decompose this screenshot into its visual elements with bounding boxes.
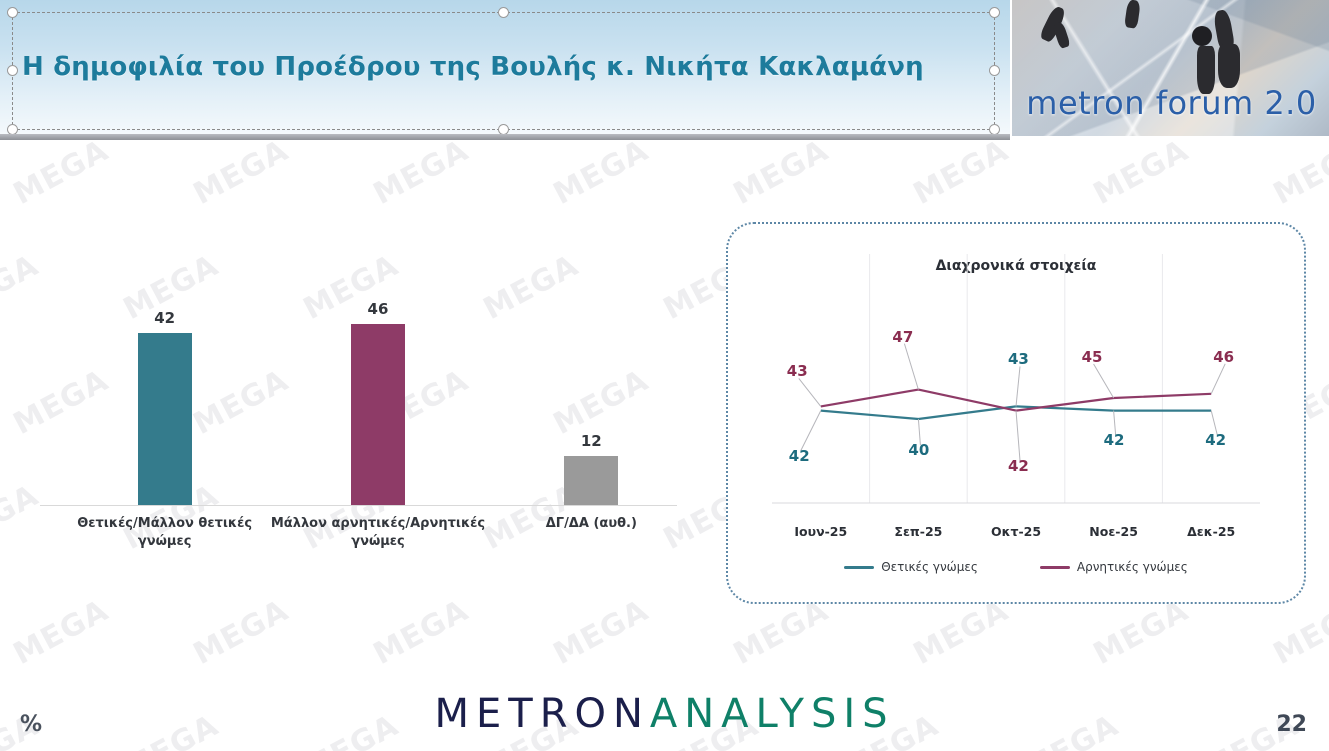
- bar-rect[interactable]: [351, 324, 405, 505]
- bar-chart-current-opinions: 424612 Θετικές/Μάλλον θετικές γνώμεςΜάλλ…: [18, 300, 698, 570]
- watermark-text: MEGA: [1088, 593, 1195, 672]
- watermark-text: MEGA: [1268, 133, 1329, 212]
- bar-column: 12: [485, 300, 698, 505]
- selection-handle-top-left[interactable]: [7, 7, 18, 18]
- data-label-leader-line: [799, 378, 821, 406]
- watermark-text: MEGA: [728, 133, 835, 212]
- watermark-text: MEGA: [1268, 593, 1329, 672]
- data-point-label: 43: [1008, 350, 1029, 368]
- data-point-label: 46: [1213, 348, 1234, 366]
- x-axis-tick-label: Νοε-25: [1089, 524, 1138, 539]
- bar-category-label: ΔΓ/ΔΑ (αυθ.): [481, 515, 701, 533]
- data-point-label: 43: [787, 362, 808, 380]
- watermark-text: MEGA: [908, 133, 1015, 212]
- timeline-chart-plot-area: 42404342424347424546: [772, 254, 1260, 509]
- bar-column: 46: [271, 300, 484, 505]
- watermark-text: MEGA: [8, 133, 115, 212]
- timeline-chart-x-axis: Ιουν-25Σεπ-25Οκτ-25Νοε-25Δεκ-25: [772, 524, 1260, 546]
- watermark-text: MEGA: [8, 593, 115, 672]
- legend-item-positive[interactable]: Θετικές γνώμες: [844, 560, 978, 574]
- metron-analysis-logo: METRONANALYSIS: [0, 691, 1329, 737]
- header-divider-rule: [0, 134, 1010, 140]
- watermark-text: MEGA: [728, 593, 835, 672]
- page-title: Η δημοφιλία του Προέδρου της Βουλής κ. Ν…: [22, 52, 972, 82]
- data-point-label: 40: [908, 441, 929, 459]
- watermark-text: MEGA: [548, 593, 655, 672]
- data-point-label: 42: [1008, 457, 1029, 475]
- data-point-label: 45: [1082, 348, 1103, 366]
- bar-category-label: Μάλλον αρνητικές/Αρνητικές γνώμες: [268, 515, 488, 550]
- data-label-leader-line: [904, 344, 918, 390]
- data-point-label: 47: [892, 328, 913, 346]
- x-axis-tick-label: Οκτ-25: [991, 524, 1041, 539]
- legend-label: Θετικές γνώμες: [881, 560, 978, 574]
- selection-handle-middle-right[interactable]: [989, 65, 1000, 76]
- bar-value-label: 46: [368, 300, 389, 318]
- bar-rect[interactable]: [138, 333, 192, 505]
- data-label-leader-line: [801, 411, 821, 451]
- slide-footer: % METRONANALYSIS 22: [0, 681, 1329, 751]
- watermark-text: MEGA: [368, 133, 475, 212]
- legend-item-negative[interactable]: Αρνητικές γνώμες: [1040, 560, 1188, 574]
- figure-silhouette-2: [1052, 21, 1070, 49]
- selection-handle-top-center[interactable]: [498, 7, 509, 18]
- x-axis-tick-label: Δεκ-25: [1187, 524, 1235, 539]
- data-point-label: 42: [1205, 431, 1226, 449]
- timeline-chart-legend: Θετικές γνώμεςΑρνητικές γνώμες: [728, 560, 1304, 574]
- data-label-leader-line: [1094, 364, 1114, 398]
- bar-column: 42: [58, 300, 271, 505]
- bar-category-label: Θετικές/Μάλλον θετικές γνώμες: [55, 515, 275, 550]
- watermark-text: MEGA: [1088, 133, 1195, 212]
- brand-metron: METRON: [434, 691, 649, 737]
- figure-silhouette-4: [1192, 26, 1212, 46]
- bar-value-label: 12: [581, 432, 602, 450]
- bar-rect[interactable]: [564, 456, 618, 505]
- data-label-leader-line: [1211, 364, 1225, 394]
- watermark-text: MEGA: [368, 593, 475, 672]
- watermark-text: MEGA: [548, 133, 655, 212]
- metron-forum-logo-text: metron forum 2.0: [1012, 84, 1329, 122]
- bar-value-label: 42: [154, 309, 175, 327]
- selection-handle-top-right[interactable]: [989, 7, 1000, 18]
- legend-label: Αρνητικές γνώμες: [1077, 560, 1188, 574]
- x-axis-tick-label: Ιουν-25: [794, 524, 847, 539]
- watermark-text: MEGA: [188, 593, 295, 672]
- timeline-chart-panel: Διαχρονικά στοιχεία 42404342424347424546…: [726, 222, 1306, 604]
- bar-chart-plot-area: 424612: [58, 300, 698, 505]
- data-point-label: 42: [1104, 431, 1125, 449]
- selection-handle-middle-left[interactable]: [7, 65, 18, 76]
- slide-header: Η δημοφιλία του Προέδρου της Βουλής κ. Ν…: [0, 0, 1329, 140]
- figure-silhouette-7: [1218, 44, 1240, 88]
- page-number: 22: [1276, 712, 1307, 737]
- watermark-text: MEGA: [188, 133, 295, 212]
- data-label-leader-line: [1016, 411, 1020, 461]
- data-point-label: 42: [789, 447, 810, 465]
- brand-analysis: ANALYSIS: [650, 691, 895, 737]
- figure-silhouette-3: [1124, 0, 1141, 29]
- legend-swatch: [844, 566, 874, 569]
- metron-forum-logo: metron forum 2.0: [1010, 0, 1329, 136]
- watermark-text: MEGA: [908, 593, 1015, 672]
- legend-swatch: [1040, 566, 1070, 569]
- x-axis-tick-label: Σεπ-25: [894, 524, 942, 539]
- data-label-leader-line: [1016, 366, 1020, 406]
